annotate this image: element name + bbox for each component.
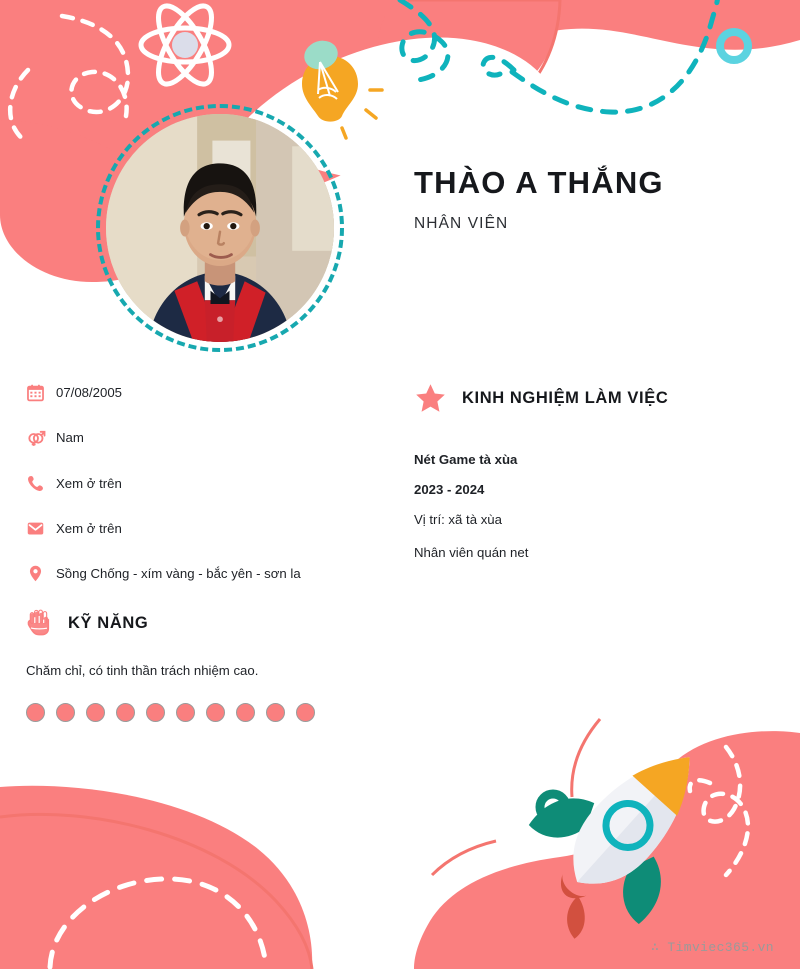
location-icon [26,563,56,588]
skill-dot[interactable] [146,703,165,722]
contact-value-birthdate: 07/08/2005 [56,382,122,403]
job-title: NHÂN VIÊN [414,215,784,233]
skill-dot[interactable] [26,703,45,722]
experience-role: Nhân viên quán net [414,542,754,563]
gender-icon [26,427,56,453]
skill-dot[interactable] [116,703,135,722]
brand-watermark: ∴ Timviec365.vn [651,940,774,955]
experience-period: 2023 - 2024 [414,479,754,500]
skills-section-title: KỸ NĂNG [68,614,148,633]
cv-page: THÀO A THẮNG NHÂN VIÊN 0 [0,0,800,969]
dashed-arc-white-left [50,879,266,967]
avatar [96,104,344,352]
dashed-swirl-white-right [690,747,748,875]
coral-blob-bottom-right [414,731,800,969]
contact-item-birthdate: 07/08/2005 [26,382,346,407]
coral-thin-arc-left [0,814,312,969]
coral-thin-arc-right [572,719,600,797]
contact-value-phone: Xem ở trên [56,473,122,494]
experience-section-title: KINH NGHIỆM LÀM VIỆC [462,389,668,408]
page-title: THÀO A THẮNG [414,164,784,201]
skill-rating[interactable] [26,703,346,722]
hand-icon [26,608,68,638]
skill-dot[interactable] [176,703,195,722]
contact-item-email: Xem ở trên [26,518,346,543]
avatar-image [106,114,334,342]
dashed-swirl-white [10,16,128,140]
contact-value-email: Xem ở trên [56,518,122,539]
contact-item-gender: Nam [26,427,346,453]
skill-dot[interactable] [236,703,255,722]
skill-dot[interactable] [296,703,315,722]
identity-block: THÀO A THẮNG NHÂN VIÊN [414,164,784,233]
atom-icon [141,0,229,92]
calendar-icon [26,382,56,407]
star-icon [414,382,462,415]
experience-position: Vị trí: xã tà xùa [414,509,754,530]
experience-entry: Nét Game tà xùa 2023 - 2024 Vị trí: xã t… [414,449,754,564]
contact-value-address: Sồng Chống - xím vàng - bắc yên - sơn la [56,563,301,584]
coral-outline-arc [408,0,560,126]
coral-thin-arc-rocket [432,841,496,875]
right-column: KINH NGHIỆM LÀM VIỆC Nét Game tà xùa 202… [414,382,754,576]
skill-dot[interactable] [206,703,225,722]
phone-icon [26,473,56,498]
skills-description: Chăm chỉ, có tinh thần trách nhiệm cao. [26,660,346,681]
email-icon [26,518,56,543]
cyan-ring-icon [720,32,748,60]
skill-dot[interactable] [266,703,285,722]
portrait-illustration [106,114,334,342]
experience-section-header: KINH NGHIỆM LÀM VIỆC [414,382,754,415]
skill-dot[interactable] [86,703,105,722]
coral-blob-bottom-left [0,786,312,969]
experience-company: Nét Game tà xùa [414,449,754,470]
teal-ring-small-icon [540,794,566,820]
contact-value-gender: Nam [56,427,84,448]
footer-decoration [0,709,800,969]
rocket-icon [492,709,745,965]
contact-item-phone: Xem ở trên [26,473,346,498]
teal-dashed-wave [400,0,718,112]
left-column: 07/08/2005 Nam Xem ở trên [26,382,346,722]
lightbulb-icon [301,36,382,138]
skill-dot[interactable] [56,703,75,722]
coral-blob-topright [378,0,560,112]
contact-item-address: Sồng Chống - xím vàng - bắc yên - sơn la [26,563,346,588]
skills-section-header: KỸ NĂNG [26,608,346,638]
